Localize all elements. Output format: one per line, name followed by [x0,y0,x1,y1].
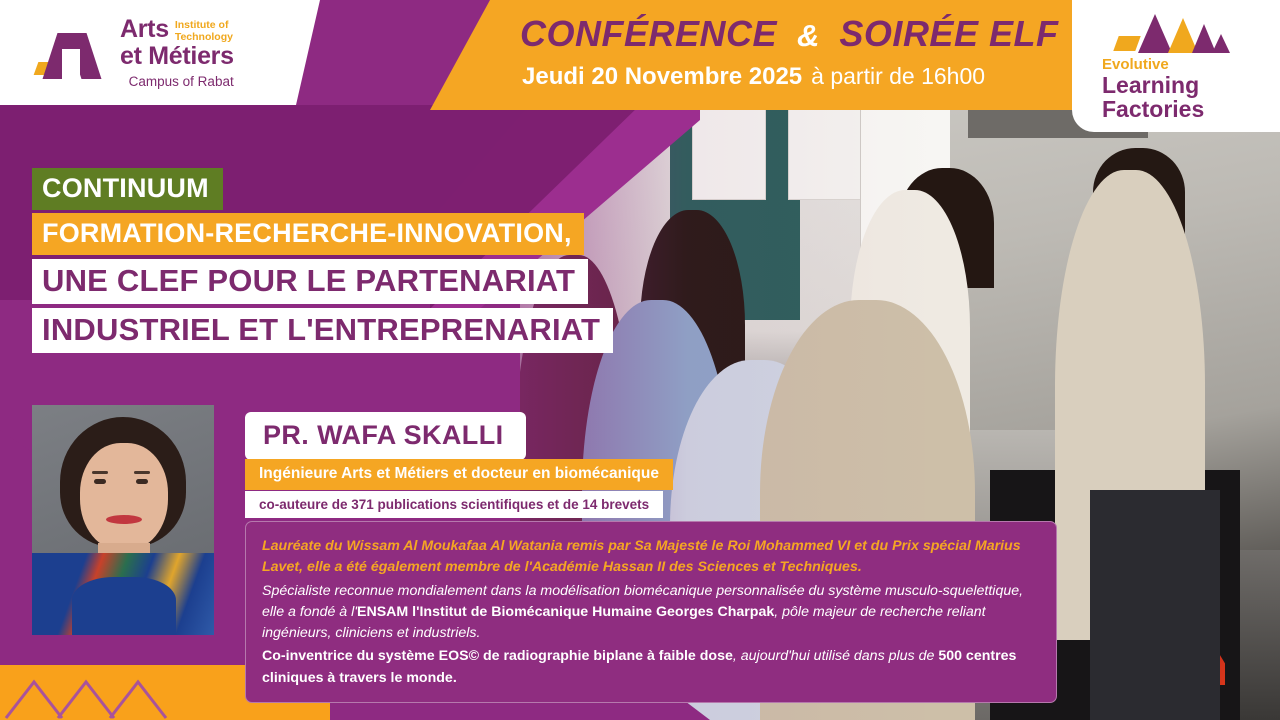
speaker-credential: Ingénieure Arts et Métiers et docteur en… [245,459,673,490]
elf-evolutive-text: Evolutive [1102,57,1169,73]
logo-institute-text: Institute ofTechnology [175,17,233,43]
elf-factories-text: Factories [1102,97,1204,122]
logo-et-metiers-text: et Métiers [120,44,234,69]
elf-chevron-icon [1116,14,1236,54]
banner-datetime-row: Jeudi 20 Novembre 2025 à partir de 16h00 [522,63,985,91]
speaker-bio-card: Lauréate du Wissam Al Moukafaa Al Watani… [245,521,1057,703]
headline-block: CONTINUUM FORMATION-RECHERCHE-INNOVATION… [32,168,613,353]
arts-et-metiers-logo-panel: Arts Institute ofTechnology et Métiers C… [0,0,320,105]
banner-ampersand: & [797,18,819,54]
banner-conference-label: CONFÉRENCE [520,13,777,55]
banner-time: à partir de 16h00 [811,63,985,90]
bio-eos-a: Co-inventrice du système EOS© de radiogr… [262,648,733,664]
elf-logo-card: Evolutive Learning Factories [1072,0,1280,132]
event-poster: Arts Institute ofTechnology et Métiers C… [0,0,1280,720]
bio-award-paragraph: Lauréate du Wissam Al Moukafaa Al Watani… [262,536,1038,579]
arts-et-metiers-wordmark: Arts Institute ofTechnology et Métiers C… [120,17,234,89]
bio-award-text: Lauréate du Wissam Al Moukafaa Al Watani… [262,538,1021,575]
conference-banner: CONFÉRENCE & SOIRÉE ELF Jeudi 20 Novembr… [430,0,1130,110]
speaker-name: PR. WAFA SKALLI [245,412,526,460]
speaker-publications: co-auteure de 371 publications scientifi… [245,491,663,518]
bio-specialty-institute: ENSAM l'Institut de Biomécanique Humaine… [357,604,774,620]
speaker-portrait [32,405,214,635]
banner-date: Jeudi 20 Novembre 2025 [522,63,802,91]
chevron-icon [0,640,250,720]
elf-learning-text: Learning [1102,73,1199,98]
headline-line-1: CONTINUUM [32,168,223,210]
headline-line-3: UNE CLEF POUR LE PARTENARIAT [32,259,588,304]
bio-eos-paragraph: Co-inventrice du système EOS© de radiogr… [262,646,1038,689]
headline-line-2: FORMATION-RECHERCHE-INNOVATION, [32,213,584,255]
arts-et-metiers-m-icon [36,27,110,79]
banner-soiree-label: SOIRÉE ELF [839,13,1058,55]
logo-arts-text: Arts [120,17,169,42]
headline-line-4: INDUSTRIEL ET L'ENTREPRENARIAT [32,308,613,353]
bio-specialty-paragraph: Spécialiste reconnue mondialement dans l… [262,581,1038,645]
banner-title-row: CONFÉRENCE & SOIRÉE ELF [520,13,1058,55]
logo-campus-text: Campus of Rabat [120,75,234,89]
bio-eos-b: , aujourd'hui utilisé dans plus de [733,648,938,664]
chevron-decoration [0,640,250,720]
